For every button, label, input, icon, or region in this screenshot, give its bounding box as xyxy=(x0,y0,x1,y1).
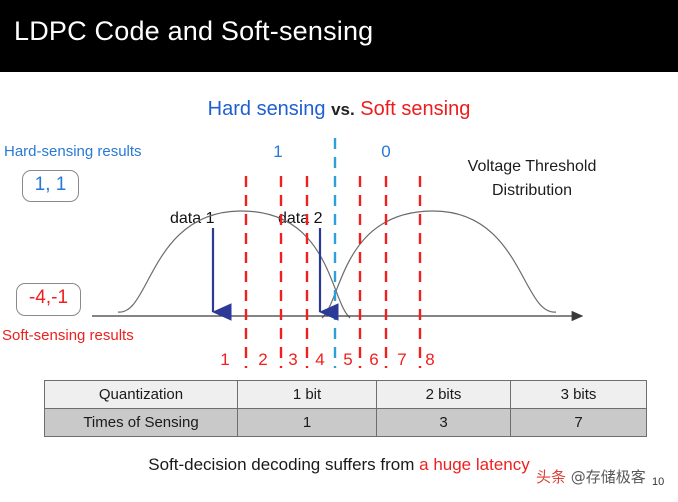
distribution-curve-right xyxy=(322,211,556,318)
table-cell-times-label: Times of Sensing xyxy=(45,409,238,437)
watermark-handle: @存储极客 xyxy=(571,468,646,486)
bit-label-one: 1 xyxy=(268,142,288,162)
page-title: LDPC Code and Soft-sensing xyxy=(14,16,373,47)
footer-note-accent: a huge latency xyxy=(419,455,530,474)
headline-soft-sensing: Soft sensing xyxy=(360,98,470,120)
table-cell-quantization-3bits: 3 bits xyxy=(511,381,647,409)
hard-sensing-results-label: Hard-sensing results xyxy=(4,143,142,160)
table-cell-times-3: 3 xyxy=(377,409,511,437)
footer-note-plain: Soft-decision decoding suffers from xyxy=(148,455,419,474)
slide-canvas: LDPC Code and Soft-sensing Hard sensing … xyxy=(0,0,678,502)
table-cell-quantization-1bit: 1 bit xyxy=(238,381,377,409)
table-cell-times-7: 7 xyxy=(511,409,647,437)
watermark-prefix: 头条 xyxy=(536,468,566,486)
headline-vs: vs. xyxy=(331,100,355,119)
tick-number: 8 xyxy=(421,350,439,370)
tick-number: 3 xyxy=(284,350,302,370)
tick-number: 1 xyxy=(216,350,234,370)
table-row: Quantization 1 bit 2 bits 3 bits xyxy=(45,381,647,409)
table-cell-quantization-2bits: 2 bits xyxy=(377,381,511,409)
distribution-caption-line2: Distribution xyxy=(432,179,632,203)
tick-number: 4 xyxy=(311,350,329,370)
tick-number: 7 xyxy=(393,350,411,370)
table-cell-quantization-label: Quantization xyxy=(45,381,238,409)
tick-number: 6 xyxy=(365,350,383,370)
table-cell-times-1: 1 xyxy=(238,409,377,437)
tick-number: 2 xyxy=(254,350,272,370)
data2-label: data 2 xyxy=(278,210,322,228)
distribution-caption-line1: Voltage Threshold xyxy=(432,155,632,179)
table-row: Times of Sensing 1 3 7 xyxy=(45,409,647,437)
watermark: 头条 @存储极客 xyxy=(536,466,646,487)
headline-hard-sensing: Hard sensing xyxy=(208,98,326,120)
title-bar: LDPC Code and Soft-sensing xyxy=(0,0,678,72)
data1-label: data 1 xyxy=(170,210,214,228)
quantization-table: Quantization 1 bit 2 bits 3 bits Times o… xyxy=(44,380,647,437)
voltage-threshold-distribution-caption: Voltage Threshold Distribution xyxy=(432,155,632,203)
tick-number: 5 xyxy=(339,350,357,370)
soft-sensing-results-label: Soft-sensing results xyxy=(2,327,134,344)
hard-sensing-value-box: 1, 1 xyxy=(22,170,79,202)
bit-label-zero: 0 xyxy=(376,142,396,162)
headline: Hard sensing vs. Soft sensing xyxy=(0,98,678,121)
page-number: 10 xyxy=(652,476,664,488)
soft-sensing-value-box: -4,-1 xyxy=(16,283,81,316)
